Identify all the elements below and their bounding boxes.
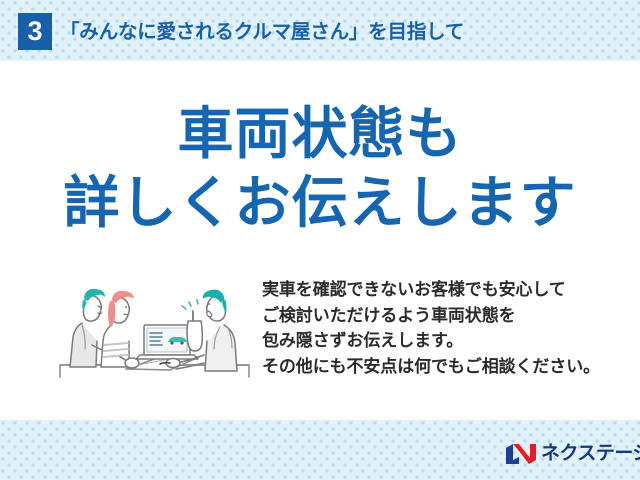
body-block: 実車を確認できないお客様でも安心して ご検討いただけるよう車両状態を 包み隠さず… xyxy=(0,273,640,403)
body-line-1: 実車を確認できないお客様でも安心して xyxy=(262,277,622,303)
body-line-2: ご検討いただけるよう車両状態を xyxy=(262,303,622,329)
body-text-block: 実車を確認できないお客様でも安心して ご検討いただけるよう車両状態を 包み隠さず… xyxy=(262,277,622,379)
content-panel: 車両状態も 詳しくお伝えします xyxy=(0,61,640,420)
nextage-n-mark-icon xyxy=(505,442,537,466)
headline-group: 車両状態も 詳しくお伝えします xyxy=(0,101,640,239)
body-line-4: その他にも不安点は何でもご相談ください。 xyxy=(262,354,622,380)
body-line-3: 包み隠さずお伝えします。 xyxy=(262,328,622,354)
brand-logo: ネクステージ xyxy=(505,440,630,470)
headline-line-2: 詳しくお伝えします xyxy=(0,167,640,239)
section-number-badge: 3 xyxy=(18,13,52,50)
header-title: 「みんなに愛されるクルマ屋さん」を目指して xyxy=(60,16,464,48)
slide-header: 3 「みんなに愛されるクルマ屋さん」を目指して xyxy=(0,0,640,61)
consultation-illustration xyxy=(52,273,257,393)
slide-canvas: 3 「みんなに愛されるクルマ屋さん」を目指して 車両状態も 詳しくお伝えします xyxy=(0,0,640,480)
consultation-illustration-svg xyxy=(52,273,257,393)
headline-line-1: 車両状態も xyxy=(0,101,640,167)
brand-logo-text: ネクステージ xyxy=(541,442,640,466)
